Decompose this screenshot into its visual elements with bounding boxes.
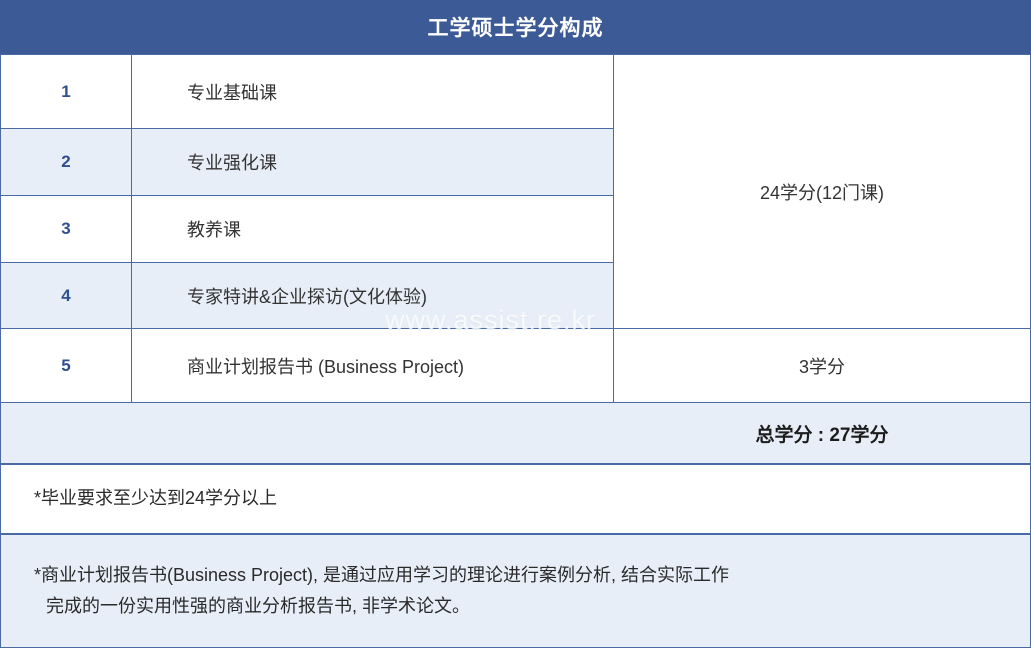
course-name: 专家特讲&企业探访(文化体验) [187, 283, 427, 309]
row-number: 4 [61, 286, 70, 306]
credit-composition-table: 工学硕士学分构成 1 专业基础课 2 专业强化课 3 教养课 4 专家特讲&企业… [0, 0, 1031, 648]
table-title-bar: 工学硕士学分构成 [0, 0, 1031, 54]
table-row-number-cell: 5 [0, 328, 132, 403]
course-name: 专业强化课 [187, 149, 277, 175]
credits-merged-cell: 24学分(12门课) [613, 54, 1031, 329]
row-number: 2 [61, 152, 70, 172]
table-row-course-cell: 专业基础课 [131, 54, 614, 129]
row-number: 3 [61, 219, 70, 239]
footnote-line-1: *商业计划报告书(Business Project), 是通过应用学习的理论进行… [34, 565, 729, 585]
total-credits-row: 总学分 : 27学分 [0, 402, 1031, 464]
footnote-business-project: *商业计划报告书(Business Project), 是通过应用学习的理论进行… [0, 534, 1031, 648]
table-row-course-cell: 专业强化课 [131, 128, 614, 196]
table-row-course-cell: 教养课 [131, 195, 614, 263]
table-row-number-cell: 3 [0, 195, 132, 263]
footnote-text-block: *商业计划报告书(Business Project), 是通过应用学习的理论进行… [1, 560, 729, 623]
page-title: 工学硕士学分构成 [428, 12, 604, 42]
course-name: 商业计划报告书 (Business Project) [187, 353, 464, 379]
footnote-text: *毕业要求至少达到24学分以上 [1, 483, 277, 515]
row-number: 5 [61, 356, 70, 376]
credits-value: 3学分 [799, 353, 845, 379]
table-row-number-cell: 1 [0, 54, 132, 129]
credits-value: 24学分(12门课) [760, 179, 884, 205]
table-row-number-cell: 2 [0, 128, 132, 196]
course-name: 专业基础课 [187, 79, 277, 105]
table-row-number-cell: 4 [0, 262, 132, 329]
course-name: 教养课 [187, 216, 241, 242]
table-row-course-cell: 专家特讲&企业探访(文化体验) [131, 262, 614, 329]
footnote-graduation-requirement: *毕业要求至少达到24学分以上 [0, 464, 1031, 534]
footnote-line-2: 完成的一份实用性强的商业分析报告书, 非学术论文。 [34, 591, 729, 623]
row-number: 1 [61, 82, 70, 102]
total-credits-label: 总学分 : 27学分 [614, 403, 1030, 463]
table-row-course-cell: 商业计划报告书 (Business Project) [131, 328, 614, 403]
credits-cell-row5: 3学分 [613, 328, 1031, 403]
